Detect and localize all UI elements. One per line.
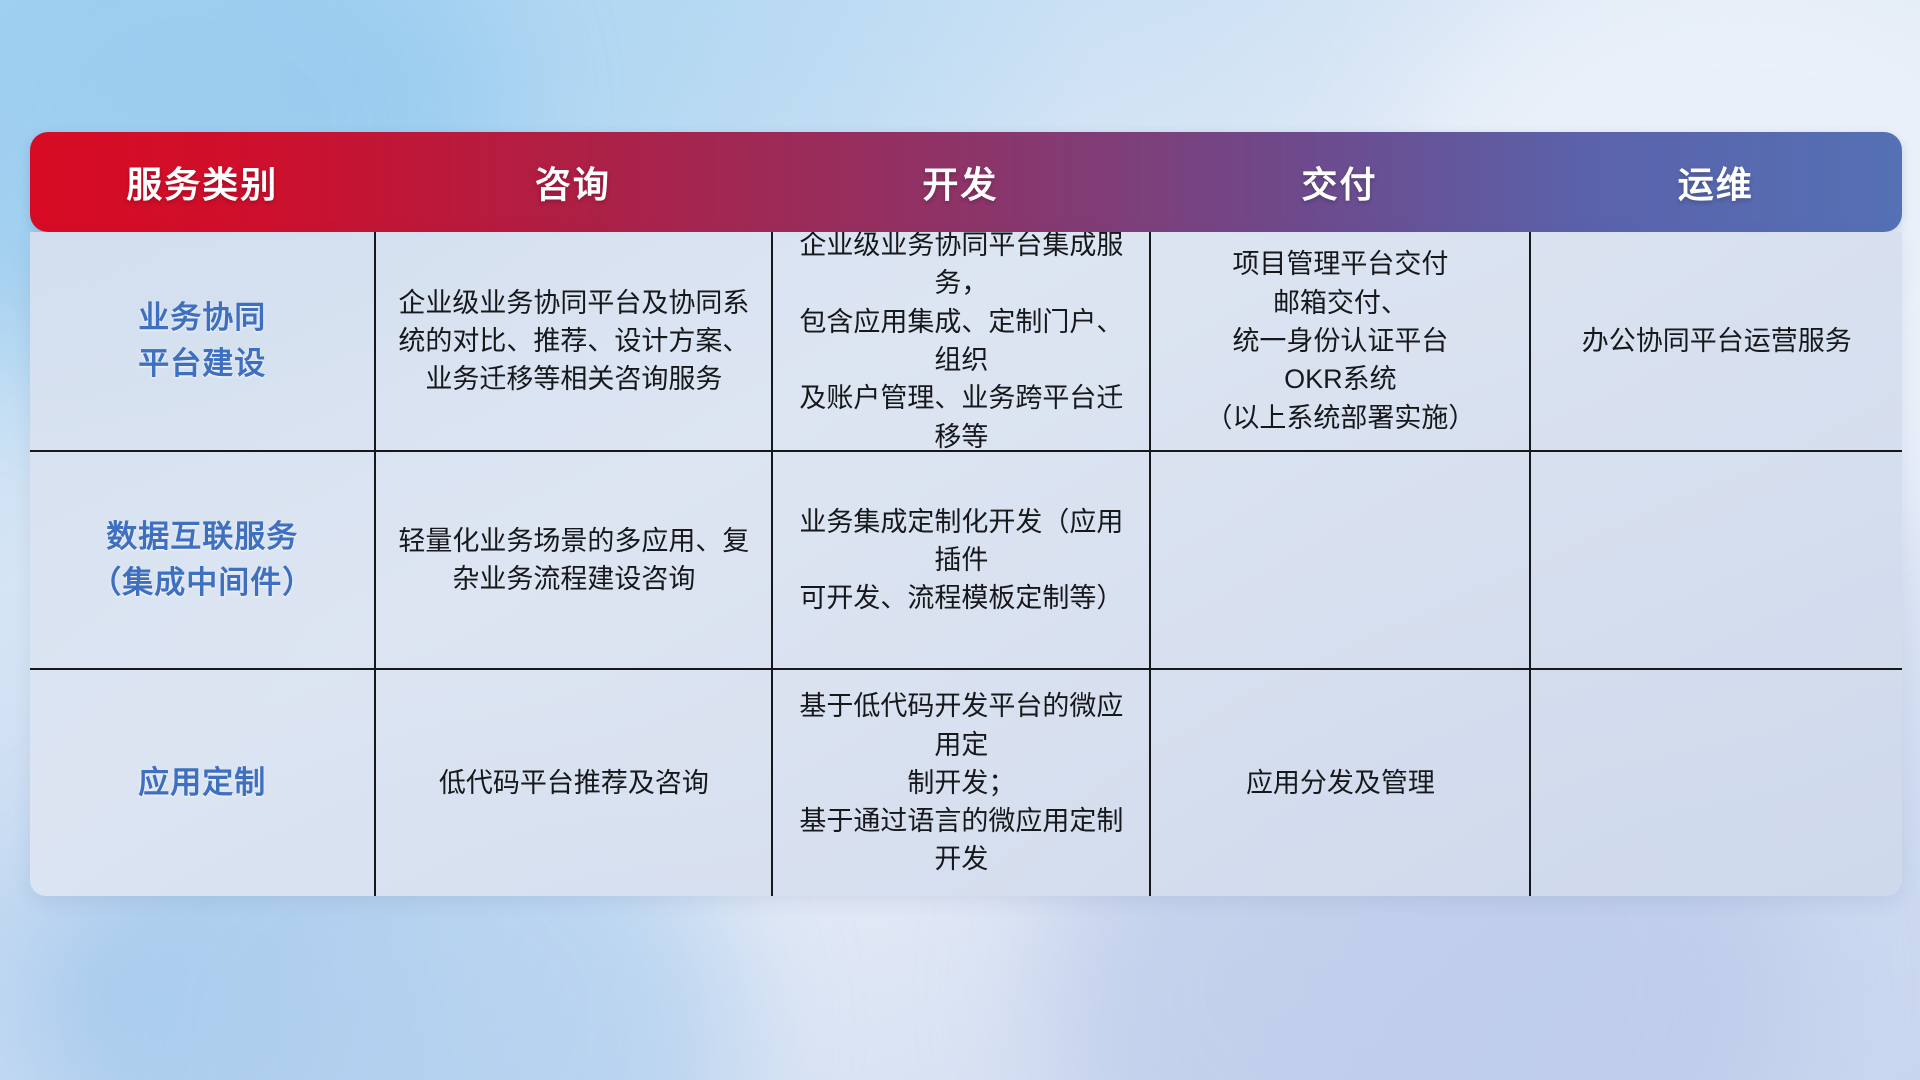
column-header-operations: 运维 bbox=[1529, 156, 1902, 208]
column-header-delivery: 交付 bbox=[1149, 156, 1529, 208]
cell-development: 企业级业务协同平台集成服务， 包含应用集成、定制门户、组织 及账户管理、业务跨平… bbox=[771, 232, 1149, 450]
cell-consulting: 低代码平台推荐及咨询 bbox=[374, 670, 771, 896]
cell-delivery bbox=[1149, 452, 1529, 668]
cell-development: 业务集成定制化开发（应用插件 可开发、流程模板定制等） bbox=[771, 452, 1149, 668]
column-header-category: 服务类别 bbox=[30, 156, 374, 208]
table-row: 应用定制 低代码平台推荐及咨询 基于低代码开发平台的微应用定 制开发； 基于通过… bbox=[30, 668, 1902, 896]
cell-operations bbox=[1529, 670, 1902, 896]
table-row: 业务协同 平台建设 企业级业务协同平台及协同系 统的对比、推荐、设计方案、 业务… bbox=[30, 232, 1902, 450]
row-category-label: 数据互联服务 （集成中间件） bbox=[30, 452, 374, 668]
cell-delivery: 应用分发及管理 bbox=[1149, 670, 1529, 896]
cell-operations: 办公协同平台运营服务 bbox=[1529, 232, 1902, 450]
cell-operations bbox=[1529, 452, 1902, 668]
table-body: 业务协同 平台建设 企业级业务协同平台及协同系 统的对比、推荐、设计方案、 业务… bbox=[30, 232, 1902, 896]
service-category-table: 服务类别 咨询 开发 交付 运维 业务协同 平台建设 企业级业务协同平台及协同系… bbox=[30, 132, 1902, 896]
cell-development: 基于低代码开发平台的微应用定 制开发； 基于通过语言的微应用定制开发 bbox=[771, 670, 1149, 896]
column-header-development: 开发 bbox=[771, 156, 1149, 208]
table-header-row: 服务类别 咨询 开发 交付 运维 bbox=[30, 132, 1902, 232]
column-header-consulting: 咨询 bbox=[374, 156, 771, 208]
cell-consulting: 轻量化业务场景的多应用、复 杂业务流程建设咨询 bbox=[374, 452, 771, 668]
row-category-label: 业务协同 平台建设 bbox=[30, 232, 374, 450]
cell-delivery: 项目管理平台交付 邮箱交付、 统一身份认证平台 OKR系统 （以上系统部署实施） bbox=[1149, 232, 1529, 450]
row-category-label: 应用定制 bbox=[30, 670, 374, 896]
table-row: 数据互联服务 （集成中间件） 轻量化业务场景的多应用、复 杂业务流程建设咨询 业… bbox=[30, 450, 1902, 668]
cell-consulting: 企业级业务协同平台及协同系 统的对比、推荐、设计方案、 业务迁移等相关咨询服务 bbox=[374, 232, 771, 450]
